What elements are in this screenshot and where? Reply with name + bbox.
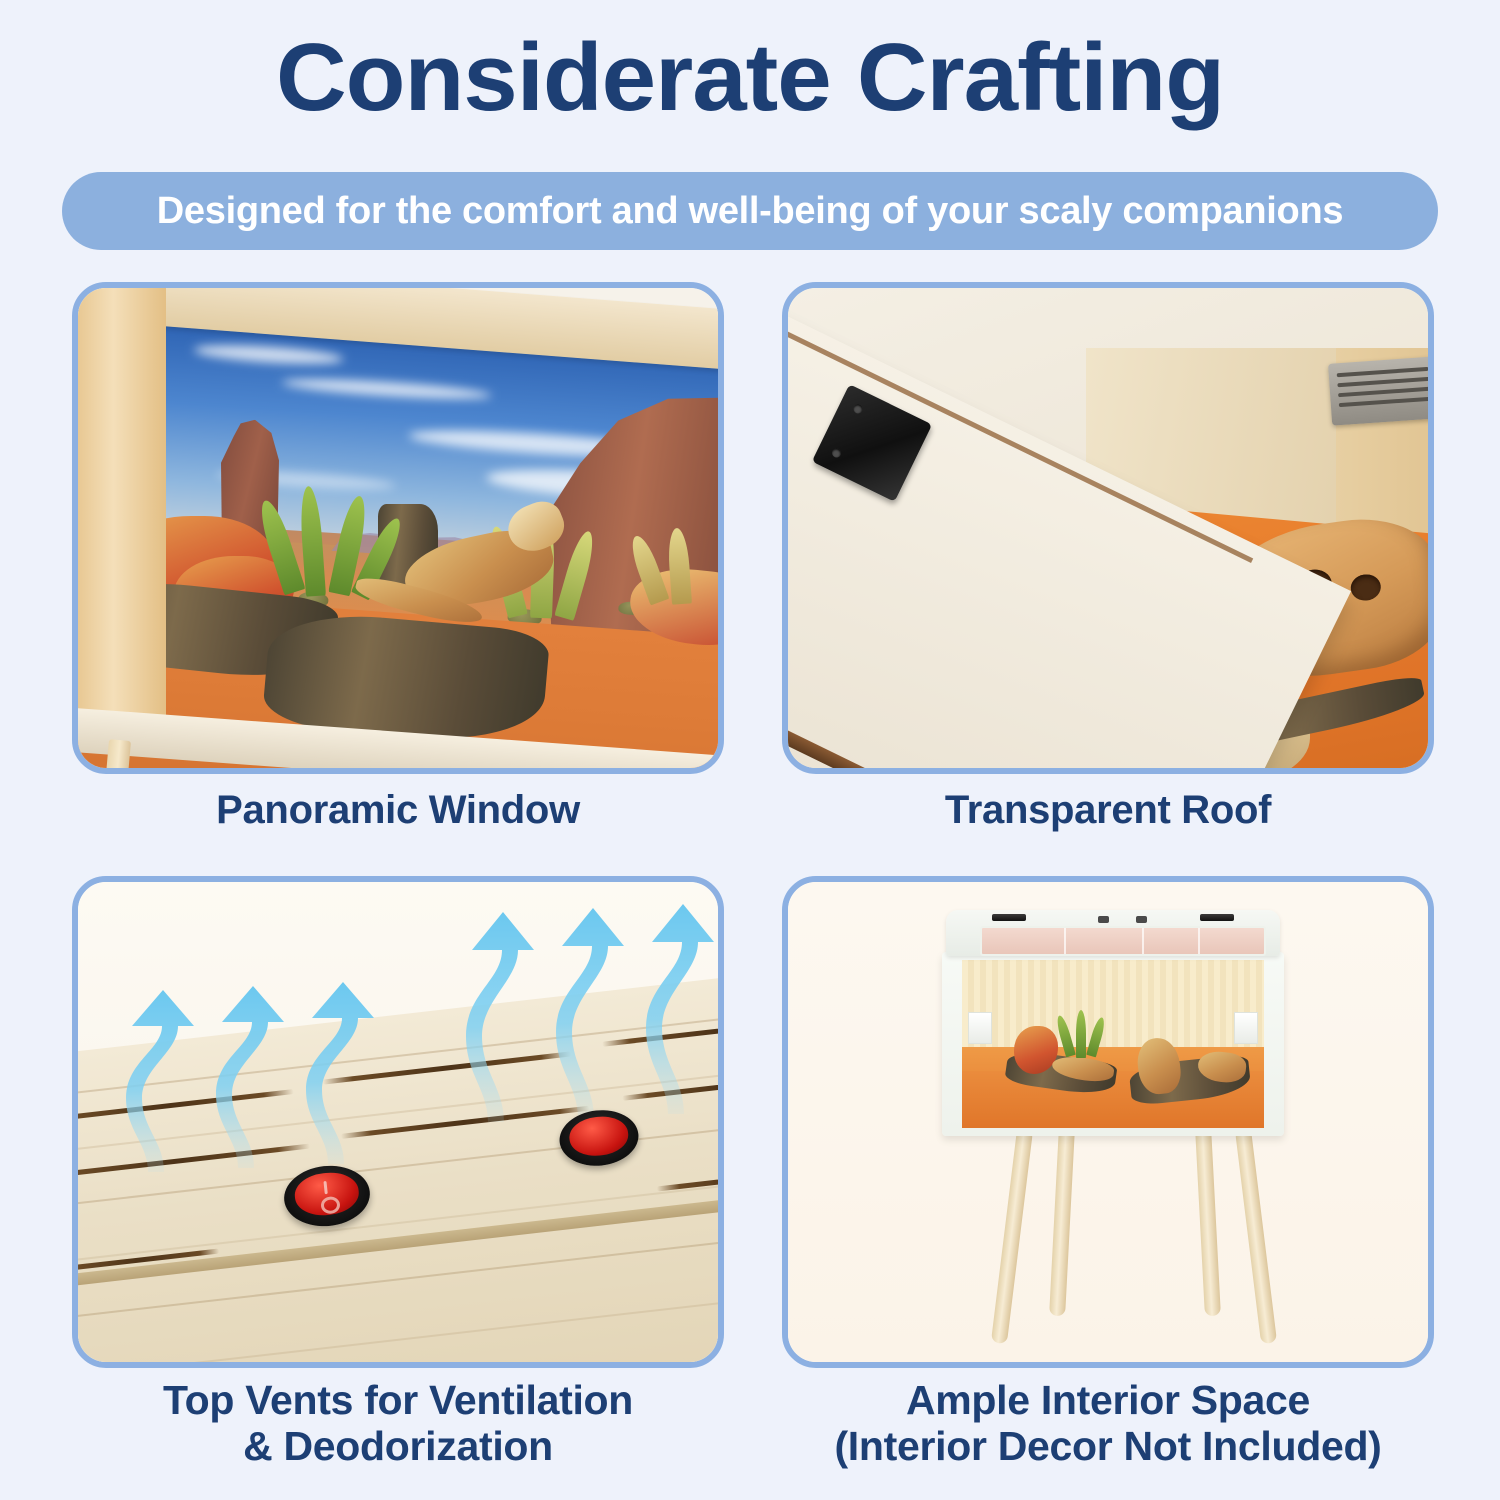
full-cabinet-photo — [788, 882, 1428, 1362]
page-title: Considerate Crafting — [0, 28, 1500, 129]
panel-top-vents — [72, 876, 724, 1368]
transparent-roof-panel — [980, 926, 1266, 956]
caption-line: Transparent Roof — [782, 788, 1434, 833]
switch-marking-on — [323, 1181, 327, 1194]
caption-transparent-roof: Transparent Roof — [782, 788, 1434, 833]
caption-line: Ample Interior Space — [762, 1378, 1454, 1424]
subtitle-banner: Designed for the comfort and well-being … — [62, 172, 1438, 250]
switch-marking-off — [320, 1196, 341, 1215]
top-knob — [1136, 916, 1147, 923]
artificial-plant — [1076, 1010, 1086, 1058]
cabinet-left-post — [78, 288, 166, 718]
top-knob — [1098, 916, 1109, 923]
interior-opening — [962, 960, 1264, 1128]
side-vent-icon — [1234, 1012, 1258, 1044]
top-vents-photo — [78, 882, 718, 1362]
caption-line: Panoramic Window — [72, 788, 724, 833]
subtitle-text: Designed for the comfort and well-being … — [157, 190, 1343, 233]
transparent-roof-photo — [788, 288, 1428, 768]
airflow-arrow-icon — [124, 982, 202, 1172]
caption-panoramic-window: Panoramic Window — [72, 788, 724, 833]
top-vent-strip — [992, 914, 1026, 921]
switch-cap — [568, 1114, 631, 1159]
caption-top-vents: Top Vents for Ventilation & Deodorizatio… — [52, 1378, 744, 1470]
caption-line: & Deodorization — [52, 1424, 744, 1470]
cabinet-body — [942, 952, 1284, 1136]
panel-ample-interior-space — [782, 876, 1434, 1368]
panel-transparent-roof — [782, 282, 1434, 774]
top-vent-strip — [1200, 914, 1234, 921]
terrarium-cabinet — [938, 910, 1288, 1150]
panoramic-window-photo — [78, 288, 718, 768]
panel-panoramic-window — [72, 282, 724, 774]
caption-ample-interior-space: Ample Interior Space (Interior Decor Not… — [762, 1378, 1454, 1470]
side-vent-icon — [968, 1012, 992, 1044]
vent-grille-icon — [1328, 356, 1434, 425]
airflow-arrow-icon — [214, 978, 292, 1168]
airflow-arrow-icon — [304, 974, 382, 1164]
cabinet-top-with-roof — [946, 910, 1280, 956]
infographic-page: Considerate Crafting Designed for the co… — [0, 0, 1500, 1500]
airflow-arrow-icon — [554, 900, 632, 1118]
caption-line: (Interior Decor Not Included) — [762, 1424, 1454, 1470]
caption-line: Top Vents for Ventilation — [52, 1378, 744, 1424]
airflow-arrow-icon — [464, 904, 542, 1122]
switch-cap — [293, 1170, 361, 1218]
airflow-arrow-icon — [644, 896, 722, 1114]
